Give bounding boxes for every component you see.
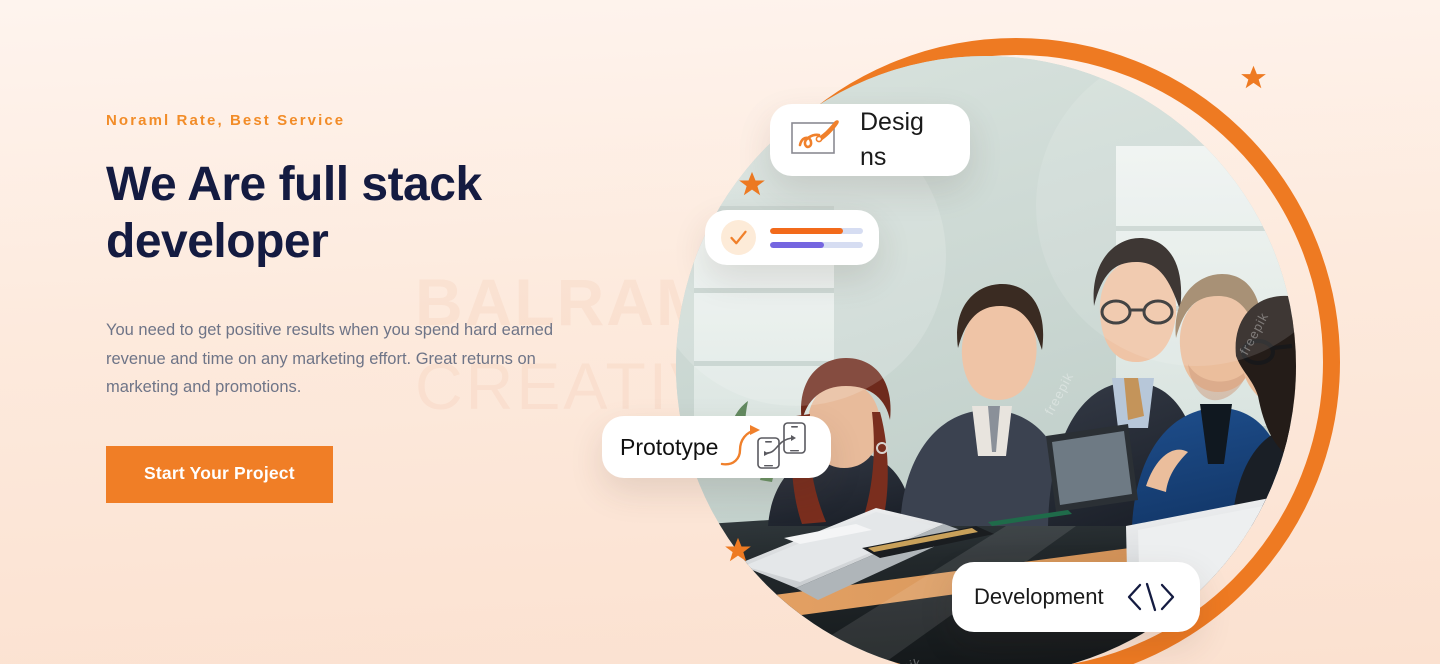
star-top-right-icon	[1240, 64, 1267, 91]
purple-progress-bar	[770, 242, 863, 248]
page-title: We Are full stack developer	[106, 157, 536, 270]
development-card[interactable]: Development	[952, 562, 1200, 632]
star-middle-left-icon	[738, 170, 766, 198]
hero-section: BALRAM DA CREATIVE IS A	[0, 0, 1440, 664]
progress-bars	[770, 228, 863, 248]
design-brush-icon	[790, 118, 842, 163]
progress-card[interactable]	[705, 210, 879, 265]
prototype-card-label: Prototype	[620, 434, 718, 461]
prototype-phones-icon	[720, 420, 808, 475]
hero-copy: Noraml Rate, Best Service We Are full st…	[106, 112, 626, 503]
designs-card[interactable]: Designs	[770, 104, 970, 176]
development-card-label: Development	[974, 584, 1104, 610]
code-brackets-icon	[1124, 580, 1178, 614]
designs-card-label: Designs	[860, 105, 934, 176]
prototype-card[interactable]: Prototype	[602, 416, 831, 478]
start-your-project-button[interactable]: Start Your Project	[106, 446, 333, 503]
hero-paragraph: You need to get positive results when yo…	[106, 316, 606, 401]
check-icon	[721, 220, 756, 255]
star-bottom-left-icon	[724, 536, 752, 564]
orange-progress-bar	[770, 228, 863, 234]
eyebrow-text: Noraml Rate, Best Service	[106, 112, 626, 129]
